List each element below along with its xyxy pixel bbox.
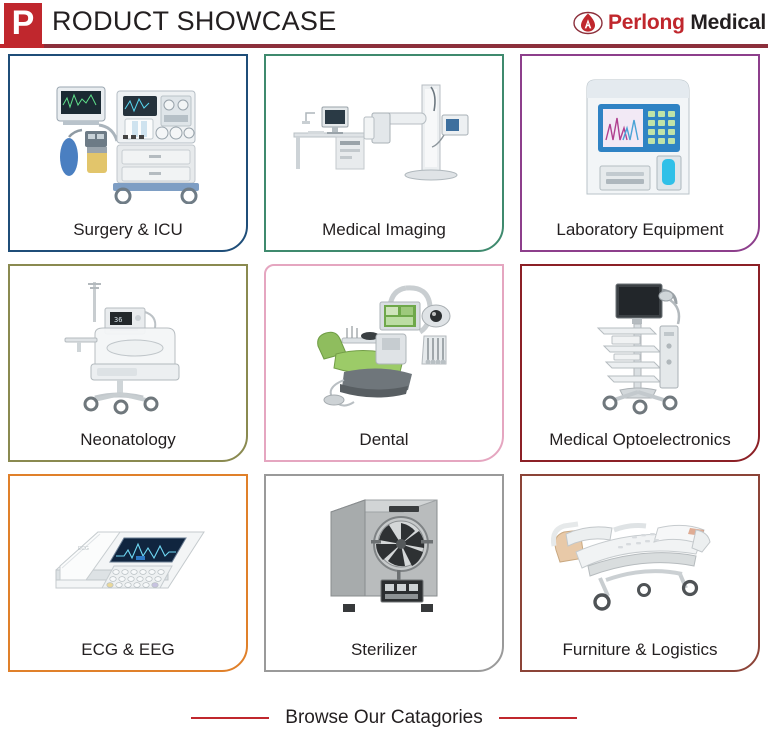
- category-card-medical-imaging[interactable]: Medical Imaging: [264, 54, 504, 252]
- grid-cell: Medical Optoelectronics: [512, 258, 768, 468]
- category-card-medical-optoelectronics[interactable]: Medical Optoelectronics: [520, 264, 760, 462]
- grid-cell: Dental: [256, 258, 512, 468]
- ecg-machine-image: ECG: [10, 476, 246, 630]
- grid-cell: Sterilizer: [256, 468, 512, 678]
- header-divider-rule: [44, 44, 768, 48]
- category-card-label: Surgery & ICU: [10, 210, 246, 250]
- category-card-neonatology[interactable]: 36: [8, 264, 248, 462]
- category-card-furniture-logistics[interactable]: Furniture & Logistics: [520, 474, 760, 672]
- anesthesia-machine-image: [10, 56, 246, 210]
- horizontal-autoclave-image: [266, 476, 502, 630]
- footer-rule-left: [191, 717, 269, 719]
- category-card-label: Laboratory Equipment: [522, 210, 758, 250]
- category-card-surgery-icu[interactable]: Surgery & ICU: [8, 54, 248, 252]
- category-card-label: ECG & EEG: [10, 630, 246, 670]
- grid-cell: 36: [0, 258, 256, 468]
- category-card-label: Medical Imaging: [266, 210, 502, 250]
- brand-logo[interactable]: Perlong Medical: [573, 6, 766, 40]
- grid-cell: Surgery & ICU: [0, 48, 256, 258]
- perlong-a-logo-icon: [573, 8, 603, 38]
- category-card-label: Neonatology: [10, 420, 246, 460]
- footer-rule-right: [499, 717, 577, 719]
- hematology-analyzer-image: [522, 56, 758, 210]
- page-header: P RODUCT SHOWCASE Perlong Medical: [0, 0, 768, 48]
- grid-cell: Laboratory Equipment: [512, 48, 768, 258]
- category-card-dental[interactable]: Dental: [264, 264, 504, 462]
- category-card-ecg-eeg[interactable]: ECG: [8, 474, 248, 672]
- svg-text:ECG: ECG: [78, 546, 89, 552]
- category-card-laboratory-equipment[interactable]: Laboratory Equipment: [520, 54, 760, 252]
- page-footer: Browse Our Catagories: [0, 688, 768, 747]
- category-card-sterilizer[interactable]: Sterilizer: [264, 474, 504, 672]
- endoscopy-tower-cart-image: [522, 266, 758, 420]
- category-card-label: Dental: [266, 420, 502, 460]
- grid-cell: ECG: [0, 468, 256, 678]
- brand-suffix-text: Medical: [690, 11, 766, 34]
- brand-logo-text: Perlong Medical: [608, 11, 766, 35]
- page-title: RODUCT SHOWCASE: [52, 6, 337, 37]
- svg-text:36: 36: [114, 316, 122, 324]
- header-rule-left-accent: [0, 44, 44, 48]
- xray-radiography-system-image: [266, 56, 502, 210]
- brand-name: Perlong: [608, 11, 685, 34]
- dental-chair-unit-image: [266, 266, 502, 420]
- browse-categories-label: Browse Our Catagories: [285, 707, 482, 729]
- product-category-grid: Surgery & ICU: [0, 48, 768, 688]
- electric-hospital-bed-image: [522, 476, 758, 630]
- header-initial-badge: P: [4, 3, 42, 44]
- category-card-label: Medical Optoelectronics: [522, 420, 758, 460]
- category-card-label: Sterilizer: [266, 630, 502, 670]
- grid-cell: Furniture & Logistics: [512, 468, 768, 678]
- infant-incubator-image: 36: [10, 266, 246, 420]
- category-card-label: Furniture & Logistics: [522, 630, 758, 670]
- grid-cell: Medical Imaging: [256, 48, 512, 258]
